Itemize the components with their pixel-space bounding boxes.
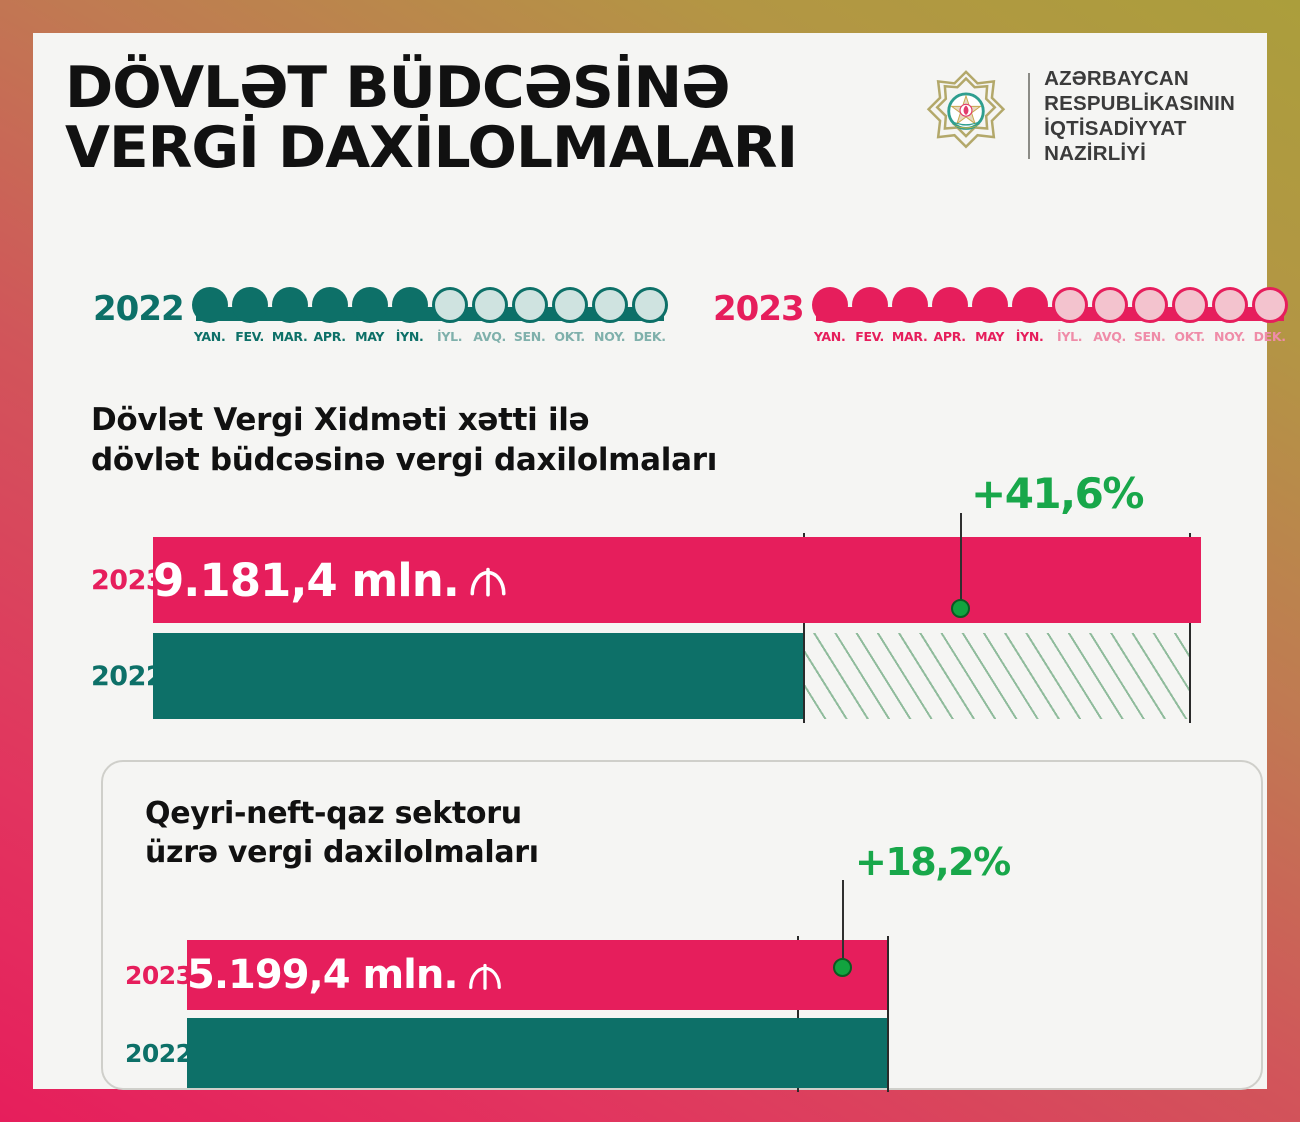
section1-heading-line1: Dövlət Vergi Xidməti xətti ilə — [91, 401, 717, 441]
ministry-name-line4: NAZİRLİYİ — [1044, 141, 1235, 166]
month-i̇yl-2023: İYL. — [1050, 287, 1090, 344]
chart2-growth-marker — [833, 958, 852, 977]
month-label: SEN. — [514, 329, 546, 344]
month-dot-icon — [1012, 287, 1048, 323]
month-dots-2022: YAN.FEV.MAR.APR.MAYİYN.İYL.AVQ.SEN.OKT.N… — [190, 281, 670, 344]
chart1-growth-label: +41,6% — [971, 469, 1143, 518]
chart2-bar-2023: 5.199,4 mln. — [187, 940, 887, 1010]
month-dot-icon — [232, 287, 268, 323]
chart2-leader-line — [842, 880, 844, 966]
month-i̇yn-2023: İYN. — [1010, 287, 1050, 344]
arrow-up-icon — [467, 559, 509, 601]
chart1-hatch-2022 — [803, 633, 1191, 719]
chart1-label-2023: 2023 — [91, 565, 153, 596]
month-dot-icon — [972, 287, 1008, 323]
chart2-value-2023: 5.199,4 mln. — [187, 952, 504, 998]
month-label: MAR. — [892, 329, 928, 344]
month-apr-2022: APR. — [310, 287, 350, 344]
chart1-value-2023: 9.181,4 mln. — [153, 554, 509, 607]
chart1-leader-line — [960, 513, 962, 608]
month-may-2022: MAY — [350, 287, 390, 344]
month-dot-icon — [512, 287, 548, 323]
chart2-value-2023-text: 5.199,4 mln. — [187, 952, 458, 998]
month-dot-icon — [892, 287, 928, 323]
month-dot-icon — [1252, 287, 1288, 323]
month-label: YAN. — [814, 329, 846, 344]
month-dot-icon — [392, 287, 428, 323]
strip-year-2023: 2023 — [713, 287, 804, 331]
month-dek-2022: DEK. — [630, 287, 670, 344]
month-dek-2023: DEK. — [1250, 287, 1290, 344]
month-dot-icon — [932, 287, 968, 323]
chart2-hatch-right-edge — [887, 936, 889, 1092]
infographic-canvas: DÖVLƏT BÜDCƏSİNƏ VERGİ DAXİLOLMALARI — [33, 33, 1267, 1089]
chart1-bar-2022 — [153, 633, 803, 719]
month-label: FEV. — [855, 329, 884, 344]
month-noy-2023: NOY. — [1210, 287, 1250, 344]
month-mar-2023: MAR. — [890, 287, 930, 344]
month-dot-icon — [1172, 287, 1208, 323]
month-dot-icon — [812, 287, 848, 323]
month-yan-2023: YAN. — [810, 287, 850, 344]
month-dot-icon — [632, 287, 668, 323]
chart1-growth-marker — [951, 599, 970, 618]
ministry-name: AZƏRBAYCAN RESPUBLİKASININ İQTİSADİYYAT … — [1044, 66, 1235, 166]
chart2-row-2023: 2023 5.199,4 mln. — [125, 940, 887, 1010]
month-label: NOY. — [594, 329, 625, 344]
month-dot-icon — [1212, 287, 1248, 323]
chart-total-tax-revenue: 2023 9.181,4 mln. 2022 +41,6% — [91, 523, 1201, 728]
chart1-row-2023: 2023 9.181,4 mln. — [91, 537, 1201, 623]
month-label: MAY — [355, 329, 384, 344]
month-dot-icon — [312, 287, 348, 323]
month-yan-2022: YAN. — [190, 287, 230, 344]
month-strips: 2022 YAN.FEV.MAR.APR.MAYİYN.İYL.AVQ.SEN.… — [93, 281, 1273, 367]
month-label: APR. — [934, 329, 966, 344]
month-dot-icon — [192, 287, 228, 323]
month-i̇yn-2022: İYN. — [390, 287, 430, 344]
chart1-label-2022: 2022 — [91, 661, 153, 692]
month-fev-2023: FEV. — [850, 287, 890, 344]
month-label: OKT. — [1174, 329, 1205, 344]
month-dot-icon — [1132, 287, 1168, 323]
azerbaijan-emblem-icon — [918, 68, 1014, 164]
month-dots-2023: YAN.FEV.MAR.APR.MAYİYN.İYL.AVQ.SEN.OKT.N… — [810, 281, 1290, 344]
chart1-value-2023-text: 9.181,4 mln. — [153, 554, 459, 607]
ministry-logo: AZƏRBAYCAN RESPUBLİKASININ İQTİSADİYYAT … — [918, 66, 1235, 166]
month-i̇yl-2022: İYL. — [430, 287, 470, 344]
month-dot-icon — [472, 287, 508, 323]
chart2-label-2023: 2023 — [125, 961, 187, 990]
month-dot-icon — [352, 287, 388, 323]
chart2-growth-label: +18,2% — [855, 840, 1010, 884]
month-label: MAY — [975, 329, 1004, 344]
month-label: İYL. — [437, 329, 462, 344]
month-okt-2023: OKT. — [1170, 287, 1210, 344]
month-label: AVQ. — [473, 329, 506, 344]
month-label: AVQ. — [1093, 329, 1126, 344]
month-dot-icon — [1052, 287, 1088, 323]
month-strip-2022: 2022 YAN.FEV.MAR.APR.MAYİYN.İYL.AVQ.SEN.… — [93, 281, 670, 344]
month-dot-icon — [272, 287, 308, 323]
chart2-bar-2022 — [187, 1018, 887, 1088]
month-label: DEK. — [1254, 329, 1286, 344]
month-label: SEN. — [1134, 329, 1166, 344]
non-oil-sector-panel: Qeyri-neft-qaz sektoru üzrə vergi daxilo… — [101, 760, 1263, 1090]
chart2-row-2022: 2022 — [125, 1018, 887, 1088]
chart1-bar-2023: 9.181,4 mln. — [153, 537, 1201, 623]
month-label: İYN. — [1016, 329, 1044, 344]
chart1-row-2022: 2022 — [91, 633, 803, 719]
section1-heading-line2: dövlət büdcəsinə vergi daxilolmaları — [91, 441, 717, 481]
month-strip-2023: 2023 YAN.FEV.MAR.APR.MAYİYN.İYL.AVQ.SEN.… — [713, 281, 1290, 344]
month-okt-2022: OKT. — [550, 287, 590, 344]
strip-year-2022: 2022 — [93, 287, 184, 331]
month-apr-2023: APR. — [930, 287, 970, 344]
month-label: OKT. — [554, 329, 585, 344]
month-label: FEV. — [235, 329, 264, 344]
ministry-name-line2: RESPUBLİKASININ — [1044, 91, 1235, 116]
month-sen-2023: SEN. — [1130, 287, 1170, 344]
chart2-label-2022: 2022 — [125, 1039, 187, 1068]
section1-heading: Dövlət Vergi Xidməti xətti ilə dövlət bü… — [91, 401, 717, 480]
month-label: APR. — [314, 329, 346, 344]
chart-non-oil-tax-revenue: 2023 5.199,4 mln. 2022 +18,2% — [103, 762, 1261, 1088]
ministry-name-line1: AZƏRBAYCAN — [1044, 66, 1235, 91]
arrow-up-icon — [466, 956, 504, 994]
month-may-2023: MAY — [970, 287, 1010, 344]
month-fev-2022: FEV. — [230, 287, 270, 344]
month-label: İYL. — [1057, 329, 1082, 344]
month-dot-icon — [552, 287, 588, 323]
month-noy-2022: NOY. — [590, 287, 630, 344]
month-avq-2022: AVQ. — [470, 287, 510, 344]
month-label: DEK. — [634, 329, 666, 344]
month-dot-icon — [592, 287, 628, 323]
month-label: NOY. — [1214, 329, 1245, 344]
month-dot-icon — [852, 287, 888, 323]
month-label: MAR. — [272, 329, 308, 344]
month-mar-2022: MAR. — [270, 287, 310, 344]
month-dot-icon — [432, 287, 468, 323]
month-dot-icon — [1092, 287, 1128, 323]
header: DÖVLƏT BÜDCƏSİNƏ VERGİ DAXİLOLMALARI — [65, 58, 1243, 218]
month-label: İYN. — [396, 329, 424, 344]
month-label: YAN. — [194, 329, 226, 344]
month-avq-2023: AVQ. — [1090, 287, 1130, 344]
logo-divider — [1028, 73, 1030, 159]
ministry-name-line3: İQTİSADİYYAT — [1044, 116, 1235, 141]
month-sen-2022: SEN. — [510, 287, 550, 344]
